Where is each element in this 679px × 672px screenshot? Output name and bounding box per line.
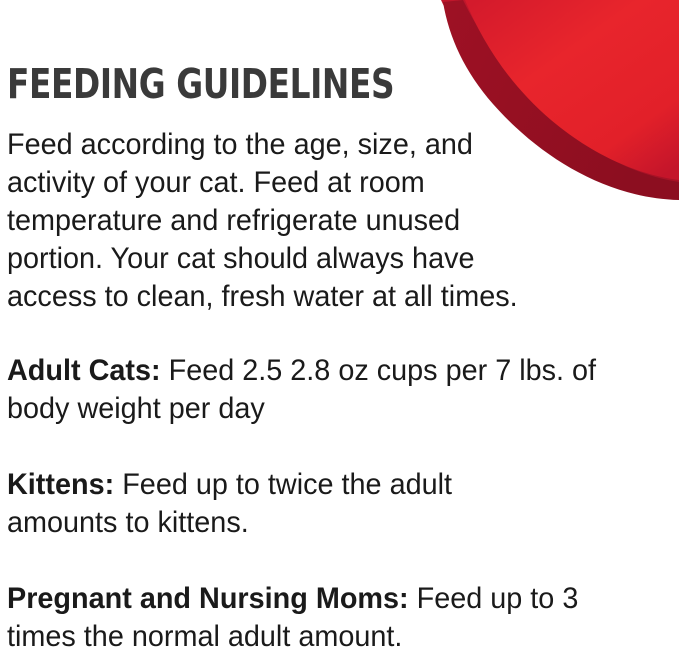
panel-content: FEEDING GUIDELINES Feed according to the… bbox=[7, 0, 679, 672]
guideline-label-adult-cats: Adult Cats: bbox=[7, 354, 161, 387]
guideline-label-pregnant-nursing-moms: Pregnant and Nursing Moms: bbox=[7, 582, 409, 615]
feeding-guidelines-panel: FEEDING GUIDELINES Feed according to the… bbox=[0, 0, 679, 672]
guideline-adult-cats: Adult Cats: Feed 2.5 2.8 oz cups per 7 l… bbox=[7, 316, 641, 428]
intro-paragraph: Feed according to the age, size, and act… bbox=[7, 106, 530, 316]
page-title: FEEDING GUIDELINES bbox=[7, 0, 545, 106]
guideline-label-kittens: Kittens: bbox=[7, 468, 114, 501]
guideline-pregnant-nursing-moms: Pregnant and Nursing Moms: Feed up to 3 … bbox=[7, 542, 641, 656]
guideline-kittens: Kittens: Feed up to twice the adult amou… bbox=[7, 428, 545, 542]
